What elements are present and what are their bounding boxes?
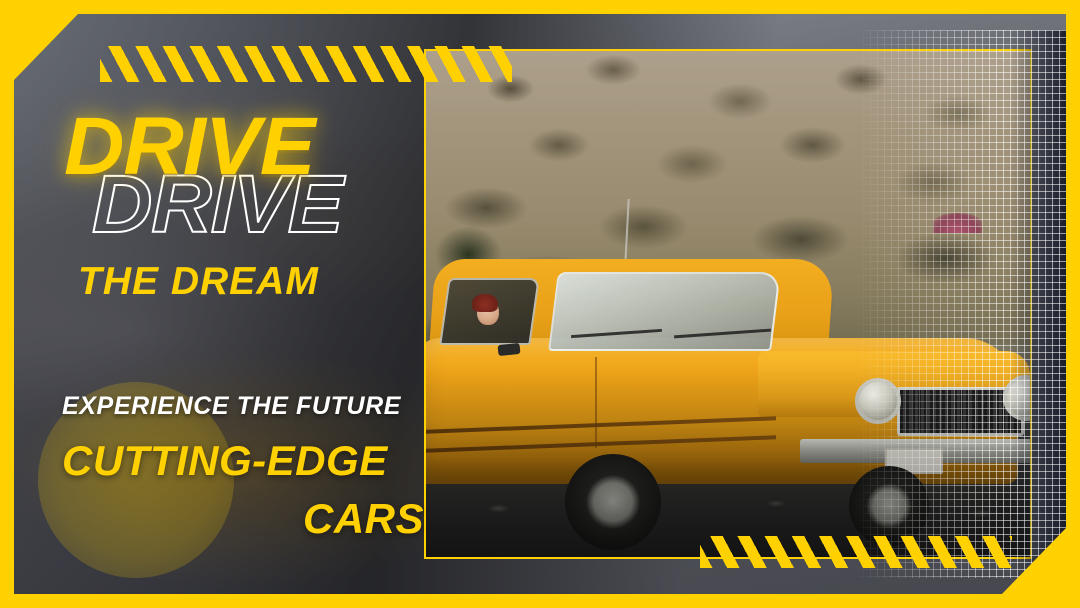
car-door-seam — [595, 357, 597, 448]
pink-canopy — [933, 213, 981, 233]
car-photo — [426, 51, 1030, 557]
subheading-line-2: CARS — [62, 495, 442, 543]
car-photo-frame — [424, 49, 1032, 559]
car-rear-wheel — [565, 454, 661, 550]
subheading-line-1: CUTTING-EDGE — [62, 437, 442, 485]
headline-subtitle: THE DREAM — [78, 260, 319, 304]
driver-hair — [472, 294, 498, 312]
subheading-kicker: EXPERIENCE THE FUTURE — [62, 392, 442, 421]
car-windshield — [548, 272, 781, 351]
classic-car — [426, 253, 1030, 557]
headlight-icon — [855, 378, 901, 424]
headline-block: DRIVE DRIVE THE DREAM — [64, 112, 434, 183]
subheading-block: EXPERIENCE THE FUTURE CUTTING-EDGE CARS — [62, 392, 442, 543]
car-front-wheel — [849, 466, 929, 546]
poster-canvas: DRIVE DRIVE THE DREAM EXPERIENCE THE FUT… — [0, 0, 1080, 608]
headline-main: DRIVE — [64, 112, 441, 183]
